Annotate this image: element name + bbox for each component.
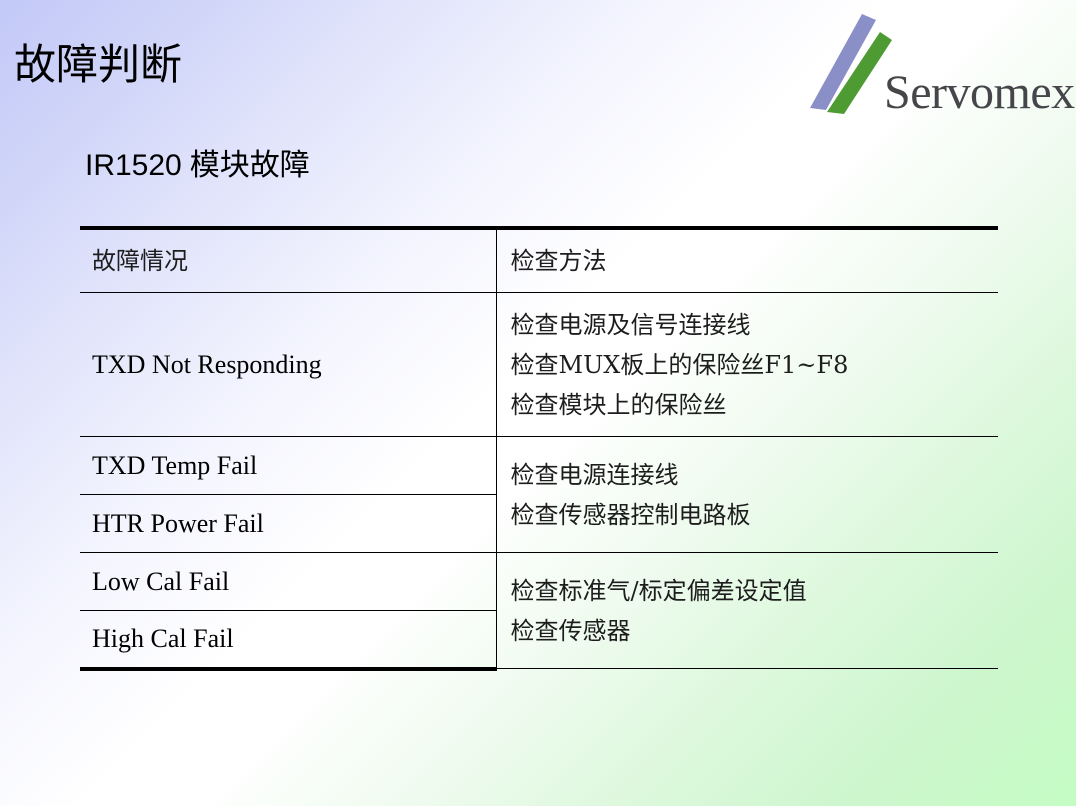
column-header-fault-label: 故障情况 [92,247,188,275]
check-cell: 检查标准气/标定偏差设定值 检查传感器 [496,553,998,669]
fault-label: High Cal Fail [92,624,234,653]
check-cell: 检查电源连接线 检查传感器控制电路板 [496,437,998,553]
check-line: 检查MUX板上的保险丝F1~F8 [511,345,999,385]
column-header-fault: 故障情况 [80,228,496,293]
column-header-check: 检查方法 [496,228,998,293]
fault-label: TXD Not Responding [92,350,322,379]
check-line: 检查模块上的保险丝 [511,385,999,425]
check-line: 检查电源连接线 [511,455,999,495]
check-line: 检查传感器 [511,611,999,651]
slide-canvas: 故障判断 Servomex IR1520模块故障 故障情况 检查方法 [0,0,1076,806]
fault-label: Low Cal Fail [92,567,229,596]
fault-cell: Low Cal Fail [80,553,496,611]
fault-cell: TXD Not Responding [80,293,496,437]
check-line: 检查电源及信号连接线 [511,305,999,345]
table-row: TXD Not Responding 检查电源及信号连接线 检查MUX板上的保险… [80,293,998,437]
fault-label: TXD Temp Fail [92,451,257,480]
fault-label: HTR Power Fail [92,509,264,538]
fault-cell: High Cal Fail [80,611,496,669]
check-line: 检查标准气/标定偏差设定值 [511,571,999,611]
section-subtitle: IR1520模块故障 [85,145,310,187]
logo-wordmark: Servomex [884,67,1075,119]
check-cell: 检查电源及信号连接线 检查MUX板上的保险丝F1~F8 检查模块上的保险丝 [496,293,998,437]
fault-cell: TXD Temp Fail [80,437,496,495]
table-row: Low Cal Fail 检查标准气/标定偏差设定值 检查传感器 [80,553,998,611]
subtitle-model: IR1520 [85,149,182,182]
check-line: 检查传感器控制电路板 [511,495,999,535]
page-title: 故障判断 [14,36,182,94]
fault-cell: HTR Power Fail [80,495,496,553]
table-row: TXD Temp Fail 检查电源连接线 检查传感器控制电路板 [80,437,998,495]
table-header-row: 故障情况 检查方法 [80,228,998,293]
column-header-check-label: 检查方法 [511,247,607,275]
servomex-logo: Servomex [800,10,1072,122]
subtitle-text: 模块故障 [190,148,310,183]
fault-diagnosis-table: 故障情况 检查方法 TXD Not Responding 检查电源及信号连接线 … [80,226,998,671]
